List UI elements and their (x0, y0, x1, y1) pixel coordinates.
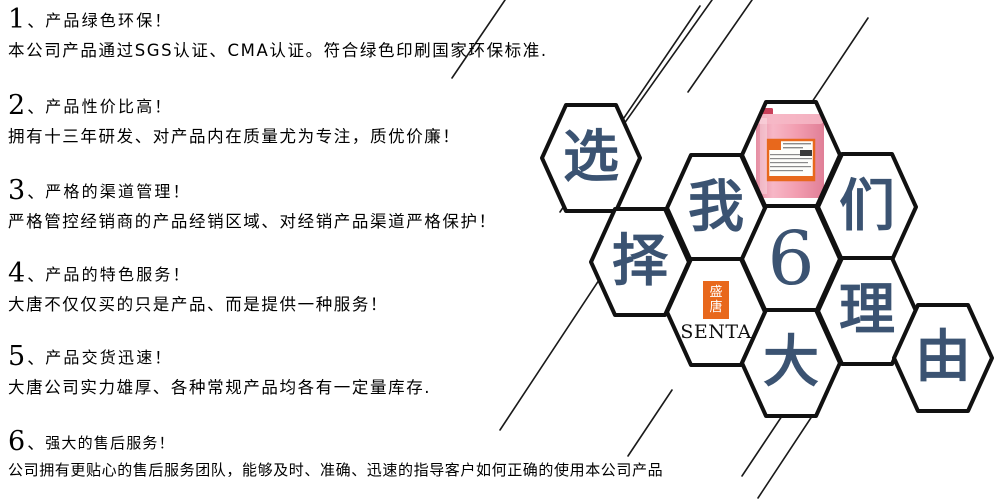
hex-cell-xuan[interactable]: 选 (540, 103, 642, 213)
reason-number: 6 (8, 428, 25, 455)
reason-heading: 1 、 产品绿色环保！ (8, 6, 548, 33)
reason-body: 大唐不仅仅买的只是产品、而是提供一种服务！ (8, 291, 388, 315)
reason-title: 产品的特色服务！ (45, 261, 191, 285)
hex-label-you: 由 (892, 303, 994, 413)
reason-title: 强大的售后服务！ (45, 432, 175, 453)
reason-heading: 4 、 产品的特色服务！ (8, 260, 388, 287)
hex-label-xuan: 选 (540, 103, 642, 213)
reason-body: 大唐公司实力雄厚、各种常规产品均各有一定量库存. (8, 374, 431, 398)
reason-item-6: 6 、 强大的售后服务！ 公司拥有更贴心的售后服务团队，能够及时、准确、迅速的指… (8, 428, 663, 480)
logo-seal-char-top: 盛 (709, 285, 722, 300)
reason-item-5: 5 、 产品交货迅速！ 大唐公司实力雄厚、各种常规产品均各有一定量库存. (8, 343, 431, 398)
reason-heading: 5 、 产品交货迅速！ (8, 343, 431, 370)
reason-separator: 、 (27, 344, 44, 369)
reason-body: 本公司产品通过SGS认证、CMA认证。符合绿色印刷国家环保标准. (8, 37, 548, 61)
reason-separator: 、 (27, 261, 44, 286)
reason-item-2: 2 、 产品性价比高！ 拥有十三年研发、对产品内在质量尤为专注，质优价廉！ (8, 92, 461, 147)
reason-body: 公司拥有更贴心的售后服务团队，能够及时、准确、迅速的指导客户如何正确的使用本公司… (8, 459, 663, 480)
reason-separator: 、 (27, 93, 44, 118)
reason-separator: 、 (27, 429, 44, 454)
reason-separator: 、 (27, 7, 44, 32)
reason-item-3: 3 、 严格的渠道管理！ 严格管控经销商的产品经销区域、对经销产品渠道严格保护！ (8, 177, 497, 232)
reason-number: 4 (8, 260, 25, 287)
reason-title: 产品性价比高！ (45, 93, 172, 117)
reason-body: 拥有十三年研发、对产品内在质量尤为专注，质优价廉！ (8, 123, 461, 147)
reason-number: 5 (8, 343, 25, 370)
reason-body: 严格管控经销商的产品经销区域、对经销产品渠道严格保护！ (8, 208, 497, 232)
logo-seal-char-bottom: 唐 (709, 300, 722, 315)
reason-number: 1 (8, 6, 25, 33)
reason-title: 产品交货迅速！ (45, 344, 172, 368)
reason-number: 2 (8, 92, 25, 119)
reason-title: 严格的渠道管理！ (45, 178, 191, 202)
logo-seal-icon: 盛 唐 (703, 281, 729, 319)
reason-number: 3 (8, 177, 25, 204)
reason-item-4: 4 、 产品的特色服务！ 大唐不仅仅买的只是产品、而是提供一种服务！ (8, 260, 388, 315)
promo-banner: 1 、 产品绿色环保！ 本公司产品通过SGS认证、CMA认证。符合绿色印刷国家环… (0, 0, 1000, 500)
reason-separator: 、 (27, 178, 44, 203)
hex-label-men: 们 (816, 152, 918, 262)
reason-title: 产品绿色环保！ (45, 7, 172, 31)
reason-heading: 6 、 强大的售后服务！ (8, 428, 663, 455)
reason-heading: 3 、 严格的渠道管理！ (8, 177, 497, 204)
hex-cell-men[interactable]: 们 (816, 152, 918, 262)
reason-item-1: 1 、 产品绿色环保！ 本公司产品通过SGS认证、CMA认证。符合绿色印刷国家环… (8, 6, 548, 61)
reason-heading: 2 、 产品性价比高！ (8, 92, 461, 119)
hex-cell-you[interactable]: 由 (892, 303, 994, 413)
